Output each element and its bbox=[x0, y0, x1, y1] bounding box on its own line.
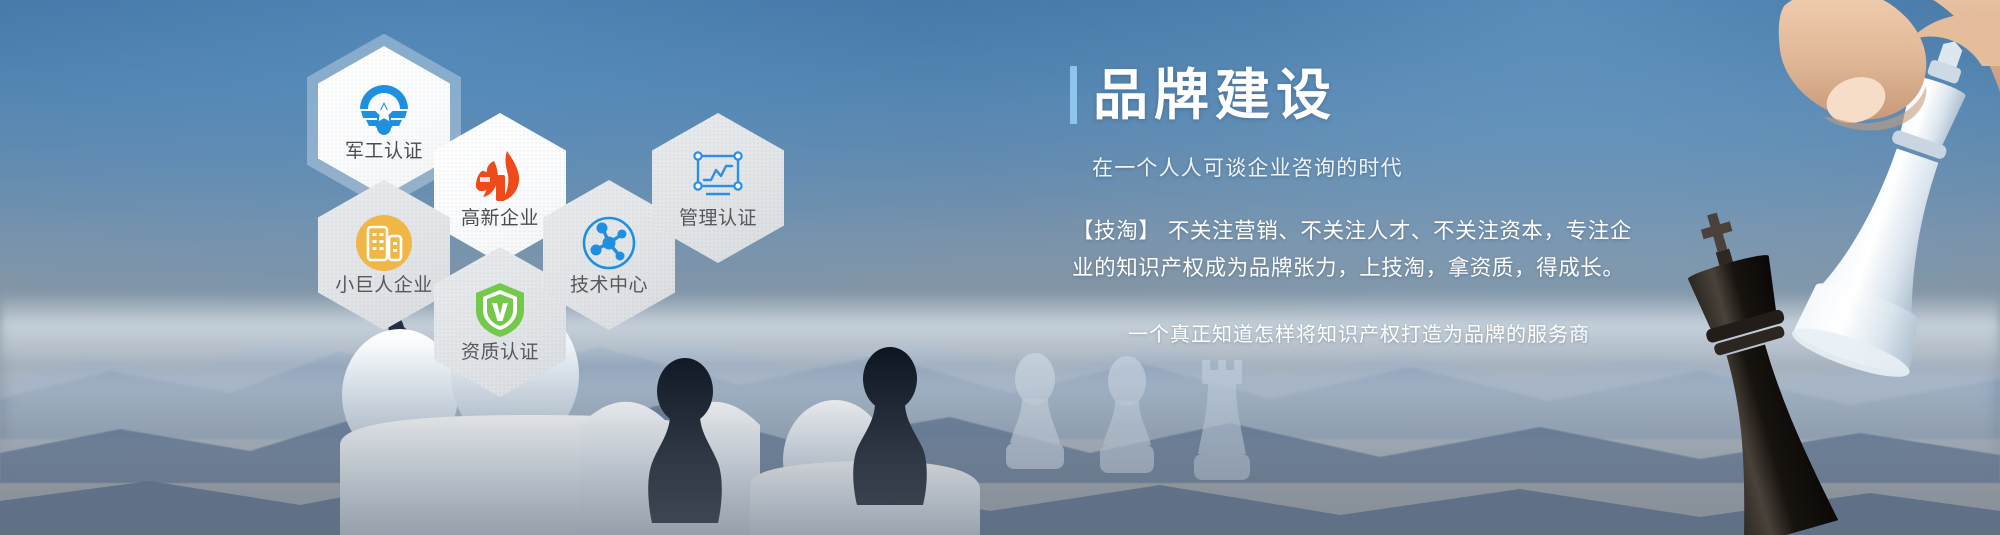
badge-label: 高新企业 bbox=[461, 208, 539, 229]
paragraph-line-1: 【技淘】 不关注营销、不关注人才、不关注资本，专注企 bbox=[1072, 214, 1710, 251]
buildings-icon bbox=[355, 214, 413, 272]
network-nodes-icon bbox=[580, 214, 638, 272]
subtitle: 在一个人人可谈企业咨询的时代 bbox=[1092, 152, 1710, 182]
badge-label: 军工认证 bbox=[345, 141, 423, 162]
certification-badge-cluster: 军工认证 高新企业 bbox=[0, 0, 840, 400]
badge-label: 小巨人企业 bbox=[335, 275, 433, 296]
badge-littlegiant[interactable]: 小巨人企业 bbox=[318, 180, 450, 330]
tagline: 一个真正知道怎样将知识产权打造为品牌的服务商 bbox=[1128, 318, 1710, 347]
hightech-flame-icon bbox=[471, 147, 529, 205]
shield-check-v-icon bbox=[471, 281, 529, 339]
chess-pawn-dark-b-icon bbox=[845, 345, 935, 505]
banner-copy-block: 品牌建设 在一个人人可谈企业咨询的时代 【技淘】 不关注营销、不关注人才、不关注… bbox=[1070, 66, 1710, 347]
chess-bishop-light-icon bbox=[1000, 349, 1070, 469]
badge-label: 资质认证 bbox=[461, 342, 539, 363]
hero-banner: 军工认证 高新企业 bbox=[0, 0, 2000, 535]
paragraph-line-2: 业的知识产权成为品牌张力，上技淘，拿资质，得成长。 bbox=[1072, 251, 1710, 288]
chart-frame-icon bbox=[689, 147, 747, 205]
chess-rook-light-icon bbox=[1190, 350, 1254, 480]
badge-label: 管理认证 bbox=[679, 208, 757, 229]
military-shield-icon bbox=[355, 80, 413, 138]
badge-label: 技术中心 bbox=[570, 275, 648, 296]
chess-knight-light-icon bbox=[1095, 353, 1159, 473]
title-row: 品牌建设 bbox=[1070, 66, 1710, 124]
description-paragraph: 【技淘】 不关注营销、不关注人才、不关注资本，专注企 业的知识产权成为品牌张力，… bbox=[1072, 214, 1710, 288]
human-hand-icon bbox=[1768, 0, 2000, 130]
badge-military[interactable]: 军工认证 bbox=[318, 46, 450, 196]
accent-bar bbox=[1070, 66, 1077, 124]
page-title: 品牌建设 bbox=[1093, 68, 1337, 123]
